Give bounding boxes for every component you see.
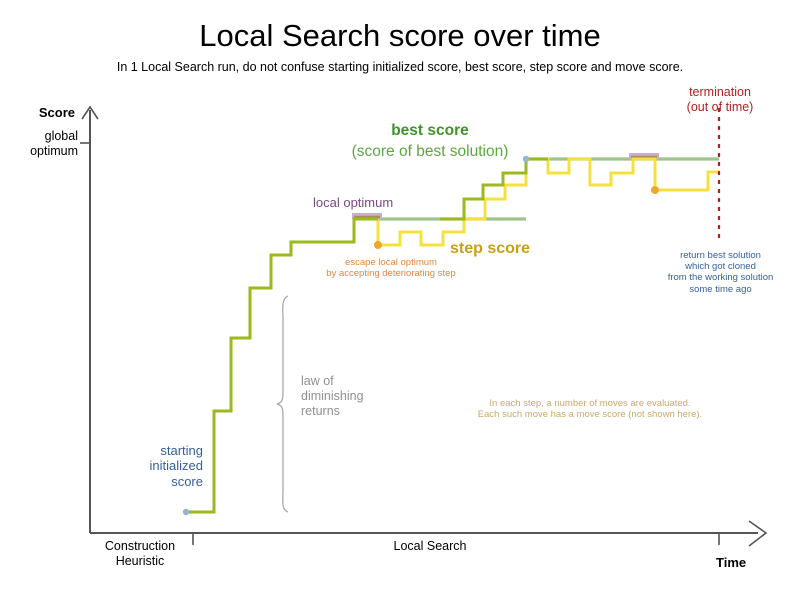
termination-annotation: termination (out of time) xyxy=(645,85,795,115)
local-optimum-annotation: local optimum xyxy=(313,195,393,210)
starting-score-dot xyxy=(183,509,189,515)
diagram-canvas: Local Search score over time In 1 Local … xyxy=(0,0,800,600)
y-axis xyxy=(80,107,98,533)
page-title: Local Search score over time xyxy=(0,18,800,55)
return-best-solution-note: return best solution which got cloned fr… xyxy=(648,250,793,295)
y-axis-title: Score xyxy=(20,105,75,120)
diminishing-returns-brace xyxy=(277,296,288,512)
law-of-diminishing-returns-annotation: law of diminishing returns xyxy=(301,374,364,418)
best-score-line-upper xyxy=(440,159,548,219)
escape-local-optimum-note: escape local optimum by accepting deteri… xyxy=(296,257,486,279)
move-score-note: In each step, a number of moves are eval… xyxy=(455,398,725,420)
x-axis-label-local-search: Local Search xyxy=(360,539,500,554)
escape-dot-2 xyxy=(651,186,659,194)
y-axis-tick-label: global optimum xyxy=(8,129,78,159)
step-score-line xyxy=(378,159,719,245)
starting-initialized-score-annotation: starting initialized score xyxy=(110,443,203,489)
best-score-annotation: best score xyxy=(280,122,580,140)
x-axis-title: Time xyxy=(716,555,746,570)
page-subtitle: In 1 Local Search run, do not confuse st… xyxy=(0,60,800,75)
escape-dot-1 xyxy=(374,241,382,249)
best-score-sub-annotation: (score of best solution) xyxy=(280,143,580,161)
x-axis-label-construction-heuristic: Construction Heuristic xyxy=(85,539,195,569)
